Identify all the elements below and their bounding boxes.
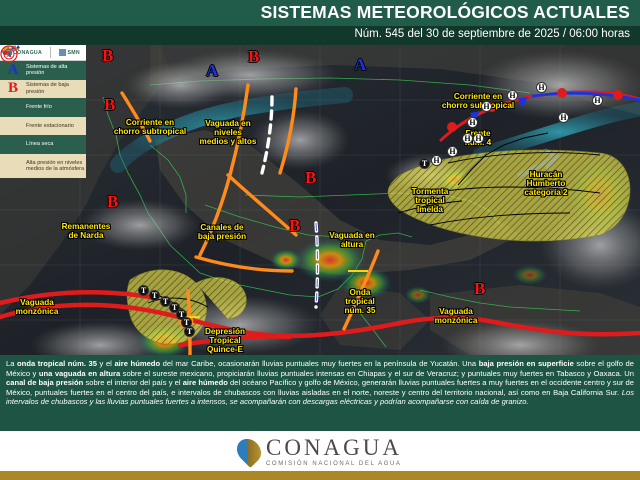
marker-low-b-central-mexico: B xyxy=(289,216,300,236)
track-point-h-humberto-4: H xyxy=(467,117,478,128)
track-point-h-humberto-7: H xyxy=(558,112,569,123)
marker-high-a-southeast-us: A xyxy=(354,55,366,75)
weather-bulletin-page: SISTEMAS METEOROLÓGICOS ACTUALES Núm. 54… xyxy=(0,0,640,480)
track-point-t-quince-e-2: T xyxy=(149,290,160,301)
footer: CONAGUA COMISIÓN NACIONAL DEL AGUA xyxy=(0,431,640,471)
bulletin-number-date: Núm. 545 del 30 de septiembre de 2025 / … xyxy=(354,28,630,40)
footer-accent-bar xyxy=(0,471,640,480)
legend-item-low-pressure: B Sistemas de baja presión xyxy=(0,80,86,99)
legend-item-label: Alta presión en niveles medios de la atm… xyxy=(24,160,86,173)
svg-text:A: A xyxy=(6,51,11,59)
marker-low-b-texas-north: B xyxy=(248,47,259,67)
legend-item-stationary-front: Frente estacionario xyxy=(0,117,86,136)
high-pressure-letter-icon: A xyxy=(2,62,24,79)
forecast-discussion-text: La onda tropical núm. 35 y el aire húmed… xyxy=(0,355,640,431)
conagua-wordmark: CONAGUA COMISIÓN NACIONAL DEL AGUA xyxy=(266,436,402,467)
track-point-h-humberto-5: H xyxy=(462,133,473,144)
track-point-h-humberto-1: H xyxy=(536,82,547,93)
marker-high-a-northcentral: A xyxy=(206,61,218,81)
track-point-h-humberto-3: H xyxy=(481,101,492,112)
smn-logo-small: SMN xyxy=(59,49,79,56)
marker-low-b-west-coast: B xyxy=(104,95,115,115)
water-drop-icon xyxy=(232,434,266,468)
track-point-h-humberto-2: H xyxy=(507,90,518,101)
map-legend: CONAGUA SMN A Sistemas de alta presión B… xyxy=(0,45,86,173)
marker-low-b-narda: B xyxy=(107,192,118,212)
conagua-logo: CONAGUA COMISIÓN NACIONAL DEL AGUA xyxy=(238,436,402,467)
conagua-subtitle: COMISIÓN NACIONAL DEL AGUA xyxy=(266,461,402,467)
track-point-h-humberto-8: H xyxy=(592,95,603,106)
legend-divider xyxy=(50,47,51,58)
track-point-h-humberto-9: H xyxy=(447,146,458,157)
marker-low-b-gulf: B xyxy=(305,168,316,188)
track-point-h-humberto-6: H xyxy=(473,133,484,144)
track-point-ts-imelda: H xyxy=(431,155,442,166)
discussion-paragraph: La onda tropical núm. 35 y el aire húmed… xyxy=(6,359,634,406)
legend-item-label: Frente frío xyxy=(24,104,52,110)
legend-item-dry-line: Línea seca xyxy=(0,135,86,154)
track-point-t-quince-e-7: T xyxy=(184,326,195,337)
conagua-name: CONAGUA xyxy=(266,436,402,460)
track-point-t-quince-e-1: T xyxy=(138,285,149,296)
marker-low-b-caribbean: B xyxy=(474,279,485,299)
marker-low-b-northwest: B xyxy=(102,46,113,66)
page-title: SISTEMAS METEOROLÓGICOS ACTUALES xyxy=(261,2,630,23)
legend-item-label: Sistemas de baja presión xyxy=(24,82,86,95)
smn-mark-icon xyxy=(59,49,66,56)
legend-item-mid-level-high: A Alta presión en niveles medios de la a… xyxy=(0,154,86,178)
legend-item-cold-front: Frente frío xyxy=(0,98,86,117)
legend-item-high-pressure: A Sistemas de alta presión xyxy=(0,61,86,80)
satellite-weather-map[interactable]: CONAGUA SMN A Sistemas de alta presión B… xyxy=(0,45,640,355)
track-point-td-imelda: T xyxy=(419,158,430,169)
legend-item-label: Línea seca xyxy=(24,141,53,147)
legend-item-label: Sistemas de alta presión xyxy=(24,64,86,77)
legend-item-label: Frente estacionario xyxy=(24,123,74,129)
low-pressure-letter-icon: B xyxy=(2,80,24,97)
